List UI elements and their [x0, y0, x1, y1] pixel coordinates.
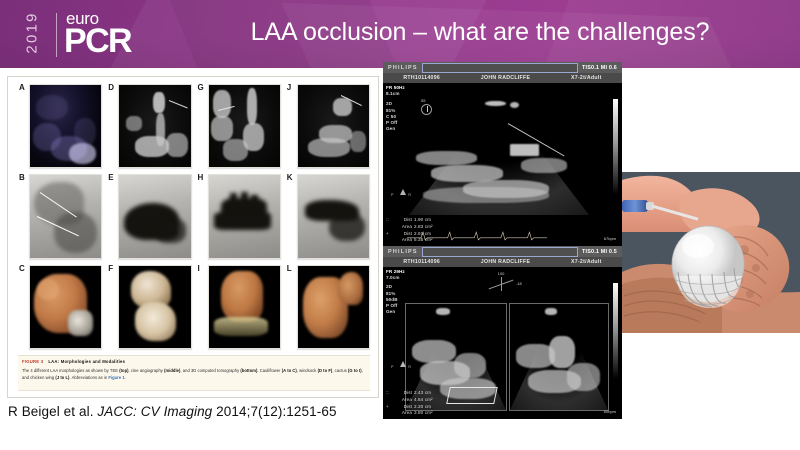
ct-image-c — [29, 265, 102, 349]
measurement-marker — [386, 410, 397, 417]
laa-occluder-illustration — [622, 172, 800, 333]
citation-reference: 2014;7(12):1251-65 — [216, 404, 336, 419]
citation: R Beigel et al. JACC: CV Imaging 2014;7(… — [8, 404, 337, 419]
figure-panel: J — [286, 83, 370, 170]
figure-caption-title: LAA: Morphologies and Modalities — [48, 359, 125, 364]
ultrasound-panel-bottom: PHILIPS TIS0.1 MI 0.5 RTH10114096 JOHN R… — [383, 246, 622, 419]
caption-text: (top) — [119, 368, 128, 373]
figure-panel: A — [18, 83, 102, 170]
logo-year: 2019 — [24, 5, 41, 61]
figure-panel: K — [286, 173, 370, 260]
measurement-key: Dist — [397, 390, 412, 397]
preset: Gen — [386, 309, 405, 315]
slide-title: LAA occlusion – what are the challenges? — [170, 18, 790, 47]
ct-image-l — [297, 265, 370, 349]
biplane-angle-left: 100 — [488, 271, 514, 276]
site-name: JOHN RADCLIFFE — [481, 75, 530, 81]
measurement-marker: :: — [386, 390, 397, 397]
panel-label: L — [287, 264, 292, 273]
philips-logo: PHILIPS — [388, 65, 418, 71]
measurement-key: Dist — [397, 217, 412, 224]
tee-image-g — [208, 84, 281, 168]
panel-label: J — [287, 83, 291, 92]
slide: 2019 euro PCR LAA occlusion – what are t… — [0, 0, 800, 450]
patient-banner-box — [422, 63, 578, 73]
angio-image-e — [118, 174, 191, 258]
figure-panel: D — [107, 83, 191, 170]
measurement-marker — [386, 237, 397, 244]
measurement-key: Area — [397, 224, 412, 231]
ultrasound-image-top: FR 50Hz 8.1cm 2D 81% C 50 P Off Gen 55 — [383, 83, 622, 246]
philips-logo: PHILIPS — [388, 249, 418, 255]
measurement-key: Dist — [397, 404, 412, 411]
caption-text: . — [125, 375, 126, 380]
heart-rate: 60bpm — [604, 409, 616, 414]
ultrasound-sector-top — [409, 97, 589, 215]
ultrasound-subheader: RTH10114096 JOHN RADCLIFFE X7-2t/Adult — [383, 73, 622, 83]
citation-authors: R Beigel et al. — [8, 404, 94, 419]
caption-text: (D to F) — [318, 368, 333, 373]
figure-panel: H — [197, 173, 281, 260]
ultrasound-subheader: RTH10114096 JOHN RADCLIFFE X7-2t/Adult — [383, 257, 622, 267]
patient-banner-box — [422, 247, 578, 257]
figure-panel: L — [286, 264, 370, 351]
acquisition-parameters: FR 29Hz 7.0cm 2D 81% 50dB P Off Gen — [386, 269, 405, 315]
caption-text: . Cauliflower — [257, 368, 281, 373]
panel-label: I — [198, 264, 200, 273]
probe-name: X7-2t/Adult — [571, 259, 602, 265]
panel-label: G — [198, 83, 204, 92]
caption-text: The 4 different LAA morphologies as show… — [22, 368, 119, 373]
measurement-value: 2.83 cm² — [414, 224, 433, 231]
panel-label: F — [108, 264, 113, 273]
measurement-value: 4.64 cm² — [414, 397, 433, 404]
caption-text: (middle) — [164, 368, 180, 373]
patient-id: RTH10114096 — [403, 259, 440, 265]
caption-text: (A to C) — [282, 368, 297, 373]
figure-panel: I — [197, 264, 281, 351]
angio-image-k — [297, 174, 370, 258]
figure-panel: E — [107, 173, 191, 260]
measurement-key: Area — [397, 410, 412, 417]
measurement-value: 5.35 cm² — [414, 237, 433, 244]
depth: 8.1cm — [386, 91, 405, 97]
panel-label: B — [19, 173, 25, 182]
figure-panel: F — [107, 264, 191, 351]
measurement-value: 2.20 cm — [414, 404, 431, 411]
ultrasound-titlebar: PHILIPS TIS0.1 MI 0.5 — [383, 246, 622, 257]
tis-mi-readout: TIS0.1 MI 0.5 — [582, 249, 617, 255]
angio-image-b — [29, 174, 102, 258]
measurement-marker: :: — [386, 217, 397, 224]
measurement-marker: + — [386, 404, 397, 411]
acquisition-parameters: FR 50Hz 8.1cm 2D 81% C 50 P Off Gen — [386, 85, 405, 132]
site-name: JOHN RADCLIFFE — [481, 259, 530, 265]
orientation-marker: P R — [391, 359, 413, 375]
tee-image-a — [29, 84, 102, 168]
caption-text: . Abbreviations as in — [69, 375, 108, 380]
greyscale-bar — [613, 283, 618, 379]
figure-panel: C — [18, 264, 102, 351]
measurement-value: 1.90 cm — [414, 217, 431, 224]
measurement-key: Area — [397, 237, 412, 244]
figure-number: FIGURE 3 — [22, 359, 43, 364]
angio-image-h — [208, 174, 281, 258]
ct-image-f — [118, 265, 191, 349]
logo-pcr-text: PCR — [64, 24, 131, 58]
tee-image-j — [297, 84, 370, 168]
measurement-key: Area — [397, 397, 412, 404]
ultrasound-image-bottom: FR 29Hz 7.0cm 2D 81% 50dB P Off Gen 100 … — [383, 267, 622, 419]
depth: 7.0cm — [386, 275, 405, 281]
ultrasound-panel-top: PHILIPS TIS0.1 MI 0.6 RTH10114096 JOHN R… — [383, 62, 622, 246]
panel-label: C — [19, 264, 25, 273]
caption-text: , and 3D computed tomography — [180, 368, 240, 373]
measurements-bottom: ::Dist2.43 cm Area4.64 cm² +Dist2.20 cm … — [386, 390, 433, 417]
caption-text: (G to I) — [348, 368, 362, 373]
figure-1-link[interactable]: Figure 1 — [108, 375, 124, 380]
probe-name: X7-2t/Adult — [571, 75, 602, 81]
caption-text: , cactus — [332, 368, 348, 373]
logo-divider — [56, 13, 57, 57]
ultrasound-titlebar: PHILIPS TIS0.1 MI 0.6 — [383, 62, 622, 73]
ct-image-i — [208, 265, 281, 349]
figure-panel: G — [197, 83, 281, 170]
caption-text: , cine angiography — [129, 368, 165, 373]
biplane-angle-indicator: 100 -18 — [488, 271, 514, 291]
figure-caption: FIGURE 3LAA: Morphologies and Modalities… — [18, 355, 370, 391]
figure-caption-heading: FIGURE 3LAA: Morphologies and Modalities — [22, 359, 366, 364]
heart-rate: 67bpm — [604, 236, 616, 241]
slide-header: 2019 euro PCR LAA occlusion – what are t… — [0, 0, 800, 68]
biplane-angle-right: -18 — [516, 281, 522, 286]
jacc-panel-grid: A D — [18, 83, 370, 351]
figure-panel: B — [18, 173, 102, 260]
caption-text: (bottom) — [240, 368, 257, 373]
ultrasound-screenshot: PHILIPS TIS0.1 MI 0.6 RTH10114096 JOHN R… — [383, 62, 622, 419]
citation-journal: JACC: CV Imaging — [97, 404, 212, 419]
measurement-key: Dist — [397, 231, 412, 238]
measurement-marker: + — [386, 231, 397, 238]
greyscale-bar — [613, 99, 618, 195]
europcr-logo: 2019 euro PCR — [16, 6, 136, 64]
panel-label: A — [19, 83, 25, 92]
measurement-marker — [386, 397, 397, 404]
jacc-figure-panel: A D — [7, 76, 379, 398]
patient-id: RTH10114096 — [403, 75, 440, 81]
ultrasound-sector-right — [509, 303, 609, 411]
tis-mi-readout: TIS0.1 MI 0.6 — [582, 65, 617, 71]
orientation-marker: P R — [391, 187, 413, 203]
measurement-value: 2.43 cm — [414, 390, 431, 397]
panel-label: D — [108, 83, 114, 92]
tee-image-d — [118, 84, 191, 168]
figure-caption-body: The 4 different LAA morphologies as show… — [22, 368, 366, 382]
preset: Gen — [386, 126, 405, 132]
measurement-value: 2.61 cm — [414, 231, 431, 238]
panel-label: H — [198, 173, 204, 182]
panel-label: E — [108, 173, 113, 182]
laa-occluder-svg — [622, 172, 800, 333]
caption-text: , windsock — [297, 368, 318, 373]
caption-text: (J to L) — [55, 375, 69, 380]
measurement-marker — [386, 224, 397, 231]
measurements-top: ::Dist1.90 cm Area2.83 cm² +Dist2.61 cm … — [386, 217, 433, 244]
panel-label: K — [287, 173, 293, 182]
measurement-value: 3.80 cm² — [414, 410, 433, 417]
